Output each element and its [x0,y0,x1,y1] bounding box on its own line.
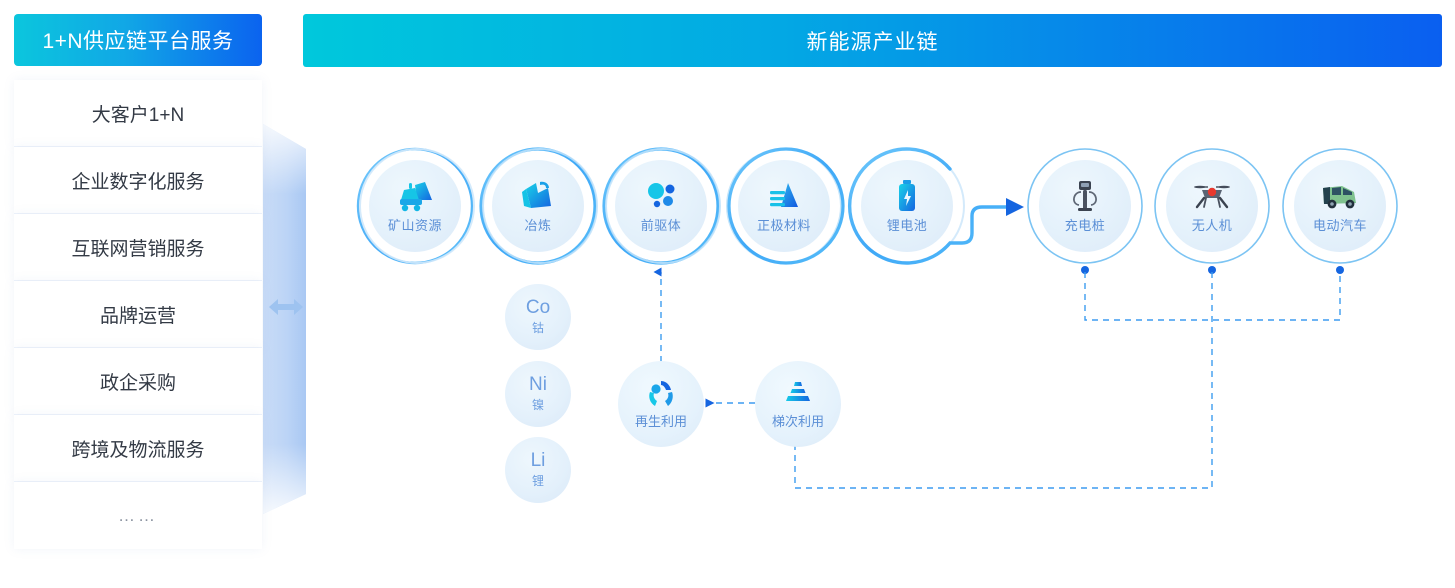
sidebar-item-label: 跨境及物流服务 [71,435,204,462]
electric-van-icon [1320,179,1360,213]
application-node-label: 电动汽车 [1313,215,1367,234]
element-node-nickel[interactable]: Ni 镍 [505,361,571,427]
molecule-dots-icon [641,179,681,213]
element-name: 锂 [532,472,544,489]
sidebar-item-label: 大客户1+N [92,100,184,127]
cathode-material-icon [764,179,804,213]
application-node-label: 无人机 [1192,215,1233,234]
chain-node-battery-body: 锂电池 [861,160,953,252]
sidebar-item-brand-operation[interactable]: 品牌运营 [14,281,262,348]
element-name: 镍 [532,396,544,413]
recycle-node-label: 梯次利用 [772,411,824,430]
mining-truck-icon [395,179,435,213]
sidebar-item-cross-border-logistics[interactable]: 跨境及物流服务 [14,415,262,482]
drone-icon [1192,179,1232,213]
sidebar-item-label: …… [118,506,158,526]
recycle-node-cascade-use[interactable]: 梯次利用 [755,361,841,447]
sidebar-item-label: 企业数字化服务 [71,167,204,194]
element-node-lithium[interactable]: Li 锂 [505,437,571,503]
sidebar-item-label: 互联网营销服务 [71,234,204,261]
element-name: 钴 [532,319,544,336]
stacked-tiers-icon [781,379,815,409]
recycle-arrows-icon [644,379,678,409]
sidebar-item-internet-marketing[interactable]: 互联网营销服务 [14,214,262,281]
application-node-label: 充电桩 [1065,215,1106,234]
application-node-charging-pile-body: 充电桩 [1039,160,1131,252]
double-arrow-horizontal-icon [268,296,304,318]
lithium-battery-icon [887,179,927,213]
chain-node-mining[interactable]: 矿山资源 [356,147,474,265]
application-node-drone[interactable]: 无人机 [1153,147,1271,265]
chain-node-cathode-body: 正极材料 [738,160,830,252]
sidebar-item-government-procurement[interactable]: 政企采购 [14,348,262,415]
chain-node-smelting-body: 冶炼 [492,160,584,252]
panel-header: 新能源产业链 [303,14,1442,67]
chain-node-smelting[interactable]: 冶炼 [479,147,597,265]
sidebar-item-more[interactable]: …… [14,482,262,549]
sidebar-item-label: 政企采购 [100,368,176,395]
application-node-drone-body: 无人机 [1166,160,1258,252]
application-node-electric-vehicle[interactable]: 电动汽车 [1281,147,1399,265]
element-node-cobalt[interactable]: Co 钴 [505,284,571,350]
panel-title: 新能源产业链 [807,26,939,56]
recycle-node-regeneration[interactable]: 再生利用 [618,361,704,447]
element-symbol: Li [531,451,546,471]
element-symbol: Ni [529,375,547,395]
charging-pile-icon [1065,179,1105,213]
element-symbol: Co [526,298,550,318]
chain-node-mining-body: 矿山资源 [369,160,461,252]
chain-node-label: 矿山资源 [388,215,442,234]
industry-chain-panel: 新能源产业链 [303,14,1442,574]
chain-node-label: 锂电池 [887,215,928,234]
sidebar-item-key-accounts[interactable]: 大客户1+N [14,80,262,147]
recycle-node-label: 再生利用 [635,411,687,430]
sidebar-list: 大客户1+N 企业数字化服务 互联网营销服务 品牌运营 政企采购 跨境及物流服务… [14,80,262,549]
chain-node-label: 正极材料 [757,215,811,234]
chain-node-label: 冶炼 [524,215,551,234]
chain-node-precursor-body: 前驱体 [615,160,707,252]
sidebar-item-label: 品牌运营 [100,301,176,328]
smelting-ladle-icon [518,179,558,213]
sidebar: 1+N供应链平台服务 大客户1+N 企业数字化服务 互联网营销服务 品牌运营 政… [14,14,262,549]
chain-node-cathode[interactable]: 正极材料 [725,147,843,265]
chain-node-precursor[interactable]: 前驱体 [602,147,720,265]
sidebar-title: 1+N供应链平台服务 [14,14,262,66]
chain-node-battery[interactable]: 锂电池 [848,147,966,265]
application-node-electric-vehicle-body: 电动汽车 [1294,160,1386,252]
sidebar-item-digitalization[interactable]: 企业数字化服务 [14,147,262,214]
application-node-charging-pile[interactable]: 充电桩 [1026,147,1144,265]
chain-node-label: 前驱体 [641,215,682,234]
